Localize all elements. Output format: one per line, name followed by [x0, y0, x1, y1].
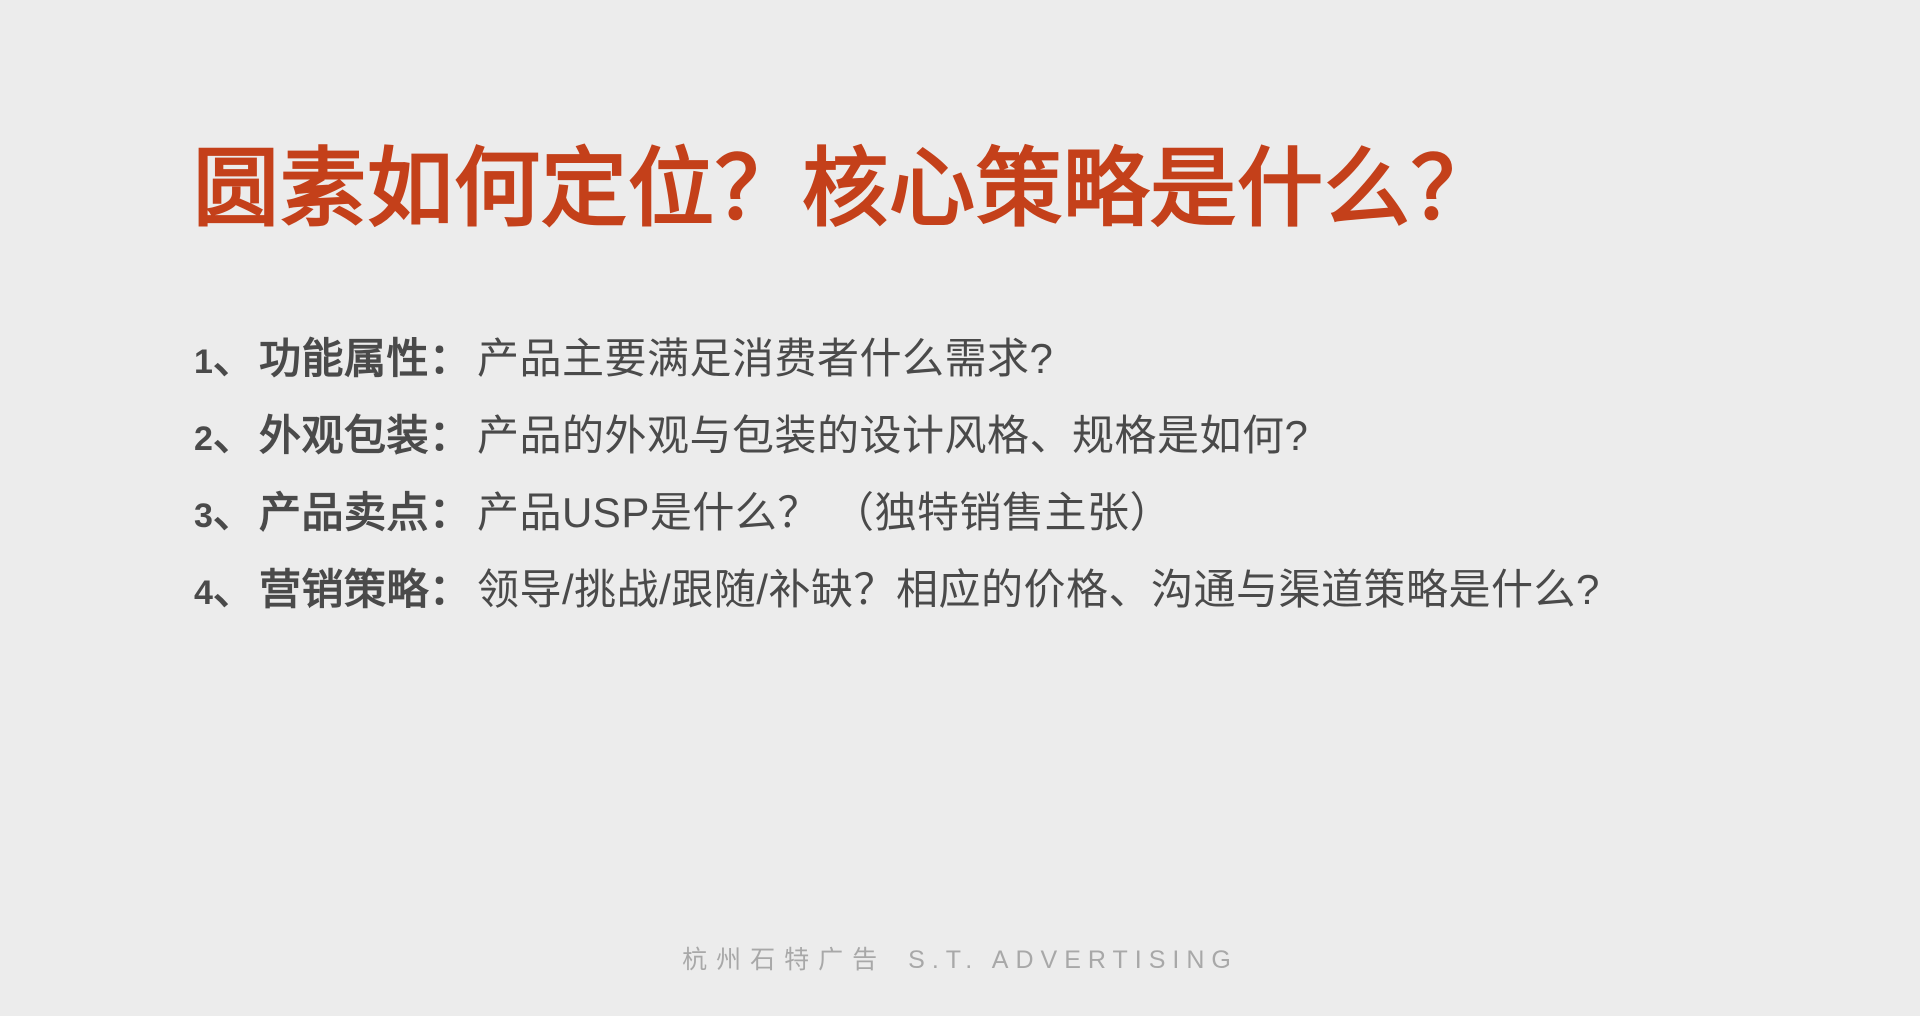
list-item-index: 1	[194, 343, 213, 382]
list-item-label: 产品卖点	[259, 479, 429, 540]
list-item-index: 4	[194, 574, 213, 613]
list-item-text: 领导/挑战/跟随/补缺？相应的价格、沟通与渠道策略是什么?	[477, 556, 1600, 617]
list-item-index-separator: 、	[213, 556, 255, 617]
list-item-text: 产品的外观与包装的设计风格、规格是如何?	[477, 402, 1308, 463]
footer-company-cn: 杭州石特广告	[682, 946, 886, 974]
list-item-label: 外观包装	[259, 402, 429, 463]
question-list: 1 、 功能属性 ： 产品主要满足消费者什么需求? 2 、 外观包装 ： 产品的…	[194, 325, 1854, 633]
list-item-index-separator: 、	[213, 325, 255, 386]
list-item-index: 2	[194, 420, 213, 459]
list-item-index-separator: 、	[213, 479, 255, 540]
list-item: 1 、 功能属性 ： 产品主要满足消费者什么需求?	[194, 325, 1854, 402]
list-item-label: 营销策略	[259, 556, 429, 617]
list-item-index-separator: 、	[213, 402, 255, 463]
list-item-text: 产品主要满足消费者什么需求?	[477, 325, 1053, 386]
list-item-colon: ：	[429, 556, 471, 617]
slide-canvas: 圆素如何定位？核心策略是什么？ 1 、 功能属性 ： 产品主要满足消费者什么需求…	[0, 0, 1920, 1016]
list-item-label: 功能属性	[259, 325, 429, 386]
footer-company-en: S.T. ADVERTISING	[908, 946, 1238, 974]
list-item: 2 、 外观包装 ： 产品的外观与包装的设计风格、规格是如何?	[194, 402, 1854, 479]
list-item-colon: ：	[429, 402, 471, 463]
list-item-colon: ：	[429, 325, 471, 386]
list-item: 4 、 营销策略 ： 领导/挑战/跟随/补缺？相应的价格、沟通与渠道策略是什么?	[194, 556, 1854, 633]
list-item-index: 3	[194, 497, 213, 536]
list-item-text: 产品USP是什么？ （独特销售主张）	[477, 479, 1172, 540]
page-title: 圆素如何定位？核心策略是什么？	[193, 144, 1498, 234]
slide-footer: 杭州石特广告S.T. ADVERTISING	[0, 940, 1920, 976]
list-item: 3 、 产品卖点 ： 产品USP是什么？ （独特销售主张）	[194, 479, 1854, 556]
list-item-colon: ：	[429, 479, 471, 540]
